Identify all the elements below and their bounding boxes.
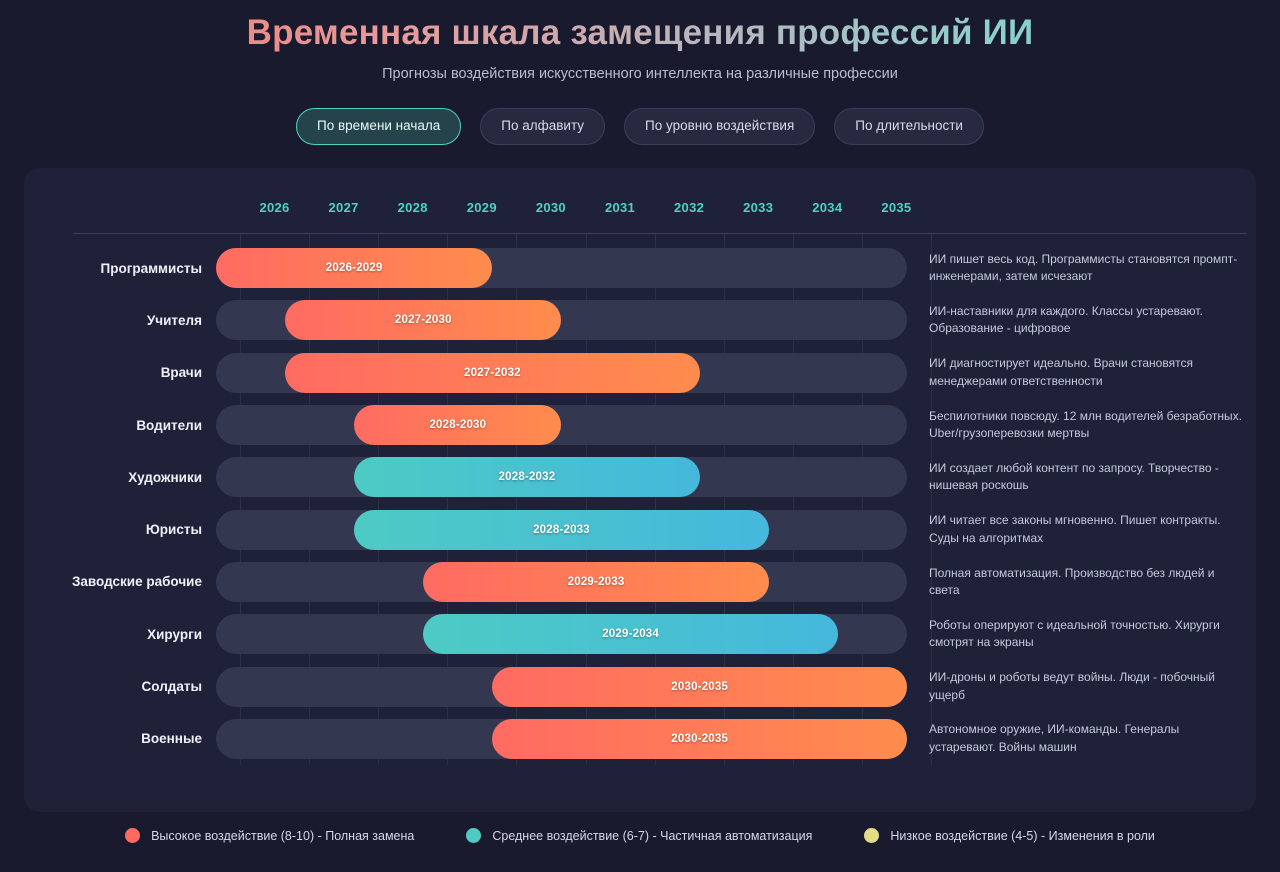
timeline-row[interactable]: Учителя2027-2030ИИ-наставники для каждог…: [24, 294, 1256, 346]
profession-label: Программисты: [24, 261, 216, 276]
timeline-bar[interactable]: 2028-2032: [354, 457, 700, 497]
profession-description: ИИ-дроны и роботы ведут войны. Люди - по…: [907, 669, 1256, 704]
timeline-bar[interactable]: 2027-2032: [285, 353, 700, 393]
filter-bar: По времени началаПо алфавитуПо уровню во…: [0, 108, 1280, 145]
timeline-bar[interactable]: 2026-2029: [216, 248, 492, 288]
profession-description: Автономное оружие, ИИ-команды. Генералы …: [907, 721, 1256, 756]
timeline-bar[interactable]: 2027-2030: [285, 300, 561, 340]
legend-dot-icon: [864, 828, 879, 843]
timeline-track: 2030-2035: [216, 667, 907, 707]
year-axis: 2026202720282029203020312032203320342035: [219, 194, 1219, 234]
timeline-track: 2028-2033: [216, 510, 907, 550]
profession-description: ИИ-наставники для каждого. Классы устаре…: [907, 303, 1256, 338]
legend-dot-icon: [125, 828, 140, 843]
profession-label: Хирурги: [24, 627, 216, 642]
legend-dot-icon: [466, 828, 481, 843]
timeline-row[interactable]: Заводские рабочие2029-2033Полная автомат…: [24, 556, 1256, 608]
timeline-row[interactable]: Водители2028-2030Беспилотники повсюду. 1…: [24, 399, 1256, 451]
profession-label: Учителя: [24, 313, 216, 328]
filter-button-0[interactable]: По времени начала: [296, 108, 461, 145]
timeline-bar[interactable]: 2028-2030: [354, 405, 561, 445]
legend-item-high[interactable]: Высокое воздействие (8-10) - Полная заме…: [125, 828, 414, 843]
year-label-2035: 2035: [862, 200, 931, 215]
timeline-row[interactable]: Военные2030-2035Автономное оружие, ИИ-ко…: [24, 713, 1256, 765]
profession-label: Врачи: [24, 365, 216, 380]
legend-item-medium[interactable]: Среднее воздействие (6-7) - Частичная ав…: [466, 828, 812, 843]
year-label-2029: 2029: [447, 200, 516, 215]
year-label-2026: 2026: [240, 200, 309, 215]
profession-label: Заводские рабочие: [24, 574, 216, 589]
legend-label: Среднее воздействие (6-7) - Частичная ав…: [492, 829, 812, 843]
timeline-row[interactable]: Программисты2026-2029ИИ пишет весь код. …: [24, 242, 1256, 294]
year-label-2028: 2028: [378, 200, 447, 215]
timeline-track: 2028-2030: [216, 405, 907, 445]
profession-description: ИИ создает любой контент по запросу. Тво…: [907, 460, 1256, 495]
timeline-bar[interactable]: 2030-2035: [492, 667, 907, 707]
timeline-row[interactable]: Юристы2028-2033ИИ читает все законы мгно…: [24, 503, 1256, 555]
timeline-track: 2026-2029: [216, 248, 907, 288]
profession-description: ИИ пишет весь код. Программисты становят…: [907, 251, 1256, 286]
year-label-2034: 2034: [793, 200, 862, 215]
timeline-row[interactable]: Хирурги2029-2034Роботы оперируют с идеал…: [24, 608, 1256, 660]
timeline-rows: Программисты2026-2029ИИ пишет весь код. …: [24, 242, 1256, 765]
legend-label: Высокое воздействие (8-10) - Полная заме…: [151, 829, 414, 843]
year-label-2027: 2027: [309, 200, 378, 215]
axis-divider: [73, 233, 1247, 234]
timeline-track: 2029-2034: [216, 614, 907, 654]
timeline-bar[interactable]: 2030-2035: [492, 719, 907, 759]
filter-button-3[interactable]: По длительности: [834, 108, 984, 145]
timeline-track: 2029-2033: [216, 562, 907, 602]
profession-description: Роботы оперируют с идеальной точностью. …: [907, 617, 1256, 652]
timeline-bar[interactable]: 2028-2033: [354, 510, 769, 550]
timeline-track: 2030-2035: [216, 719, 907, 759]
timeline-track: 2027-2032: [216, 353, 907, 393]
filter-button-2[interactable]: По уровню воздействия: [624, 108, 815, 145]
page-title: Временная шкала замещения профессий ИИ: [0, 0, 1280, 53]
profession-label: Военные: [24, 731, 216, 746]
profession-label: Солдаты: [24, 679, 216, 694]
timeline-row[interactable]: Врачи2027-2032ИИ диагностирует идеально.…: [24, 347, 1256, 399]
timeline-card: 2026202720282029203020312032203320342035…: [24, 168, 1256, 812]
profession-description: Полная автоматизация. Производство без л…: [907, 565, 1256, 600]
legend: Высокое воздействие (8-10) - Полная заме…: [0, 828, 1280, 843]
profession-description: ИИ диагностирует идеально. Врачи становя…: [907, 355, 1256, 390]
page-subtitle: Прогнозы воздействия искусственного инте…: [0, 66, 1280, 82]
legend-item-low[interactable]: Низкое воздействие (4-5) - Изменения в р…: [864, 828, 1155, 843]
timeline-track: 2027-2030: [216, 300, 907, 340]
profession-label: Водители: [24, 418, 216, 433]
year-label-2033: 2033: [724, 200, 793, 215]
profession-label: Юристы: [24, 522, 216, 537]
year-label-2032: 2032: [655, 200, 724, 215]
profession-description: Беспилотники повсюду. 12 млн водителей б…: [907, 408, 1256, 443]
timeline-page: Временная шкала замещения профессий ИИ П…: [0, 0, 1280, 872]
timeline-bar[interactable]: 2029-2034: [423, 614, 838, 654]
year-label-2030: 2030: [516, 200, 585, 215]
filter-button-1[interactable]: По алфавиту: [480, 108, 605, 145]
timeline-bar[interactable]: 2029-2033: [423, 562, 769, 602]
legend-label: Низкое воздействие (4-5) - Изменения в р…: [890, 829, 1155, 843]
year-label-2031: 2031: [586, 200, 655, 215]
timeline-track: 2028-2032: [216, 457, 907, 497]
profession-label: Художники: [24, 470, 216, 485]
profession-description: ИИ читает все законы мгновенно. Пишет ко…: [907, 512, 1256, 547]
timeline-row[interactable]: Художники2028-2032ИИ создает любой конте…: [24, 451, 1256, 503]
timeline-row[interactable]: Солдаты2030-2035ИИ-дроны и роботы ведут …: [24, 660, 1256, 712]
